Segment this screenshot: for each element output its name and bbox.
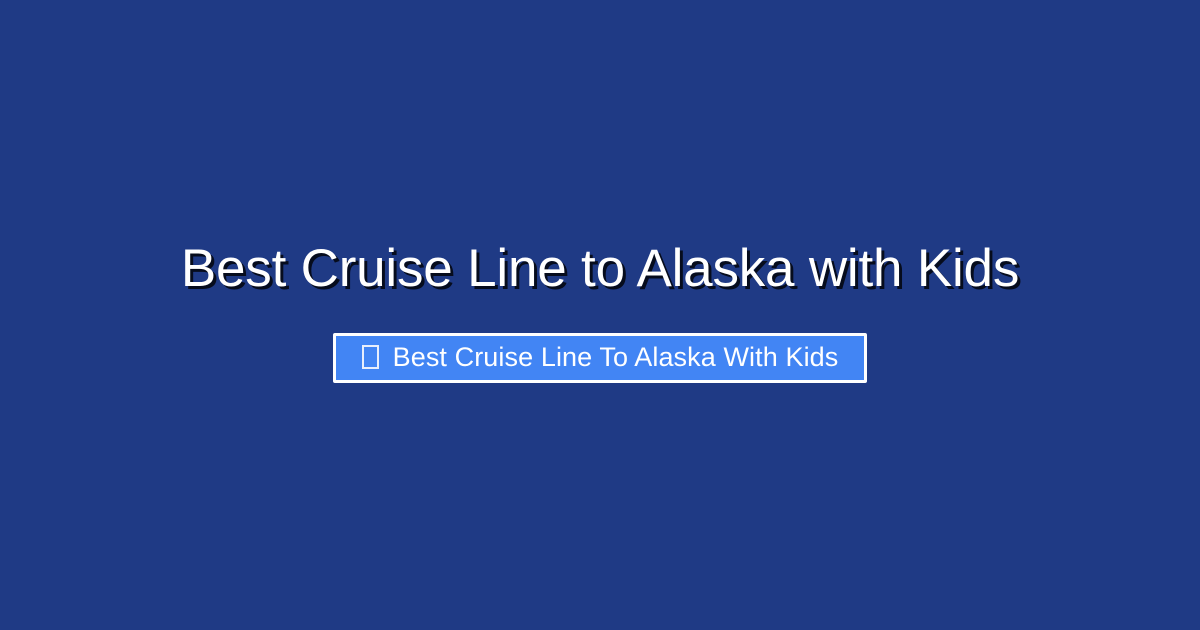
cta-button-label: Best Cruise Line To Alaska With Kids <box>393 344 839 371</box>
og-image-card: Best Cruise Line to Alaska with Kids Bes… <box>0 0 1200 630</box>
page-title: Best Cruise Line to Alaska with Kids <box>141 239 1059 298</box>
cta-container: Best Cruise Line To Alaska With Kids <box>0 333 1200 383</box>
cta-button[interactable]: Best Cruise Line To Alaska With Kids <box>333 333 868 383</box>
content-stack: Best Cruise Line to Alaska with Kids Bes… <box>0 239 1200 382</box>
missing-glyph-box-icon <box>362 345 379 369</box>
